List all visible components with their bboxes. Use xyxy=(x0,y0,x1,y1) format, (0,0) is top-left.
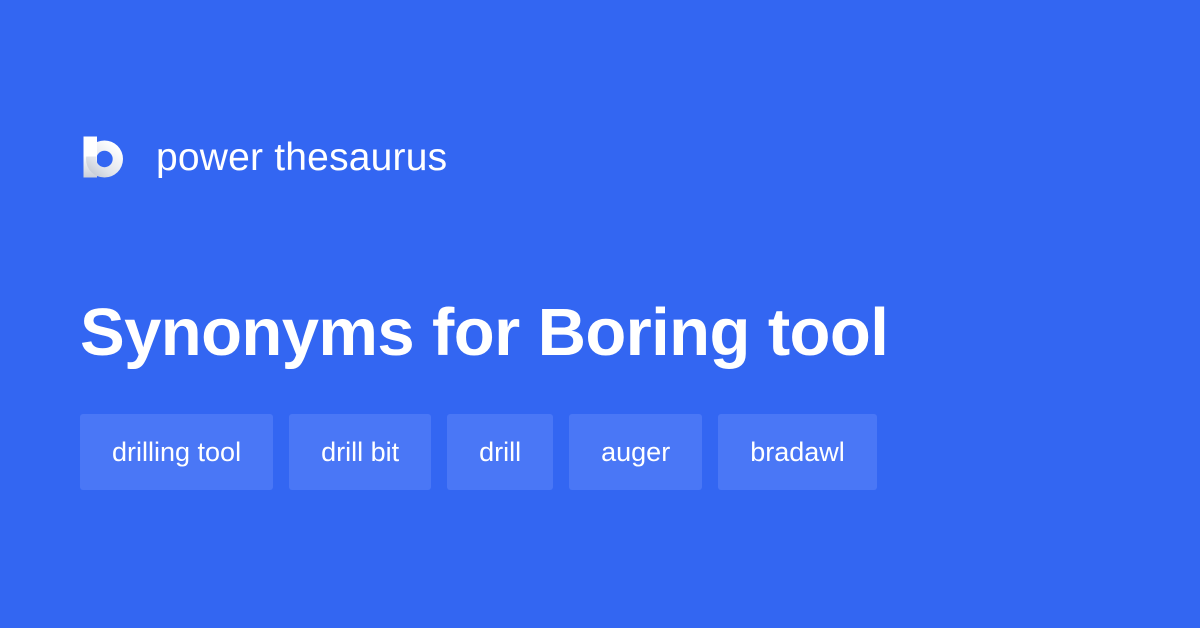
synonym-chip[interactable]: drill xyxy=(447,414,553,490)
synonym-chip[interactable]: drilling tool xyxy=(80,414,273,490)
brand-name: power thesaurus xyxy=(156,138,447,177)
synonym-chip[interactable]: drill bit xyxy=(289,414,431,490)
brand-lockup[interactable]: power thesaurus xyxy=(80,130,447,184)
synonym-chip[interactable]: bradawl xyxy=(718,414,877,490)
page-title: Synonyms for Boring tool xyxy=(80,293,1140,372)
synonym-chip[interactable]: auger xyxy=(569,414,702,490)
synonym-chip-list: drilling tool drill bit drill auger brad… xyxy=(80,414,877,490)
power-thesaurus-logo-icon xyxy=(80,133,128,181)
share-card: power thesaurus Synonyms for Boring tool… xyxy=(0,0,1200,628)
